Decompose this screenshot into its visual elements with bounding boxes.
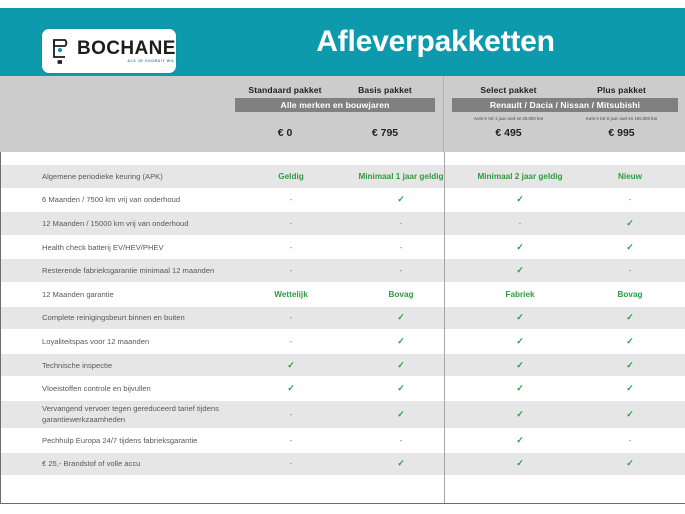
check-icon: ✓ [397,336,405,346]
table-spacer-row [1,152,685,165]
table-row: Technische inspectie✓✓✓✓ [1,354,685,378]
table-row: 6 Maanden / 7500 km vrij van onderhoud-✓… [1,189,685,213]
column-price-standaard: € 0 [235,127,335,139]
feature-value: ✓ [236,360,346,371]
feature-value: ✓ [346,360,456,371]
dash-icon: - [290,219,293,228]
column-name-standaard: Standaard pakket [235,85,335,95]
value-text: Bovag [388,290,413,299]
group-band-label-left: Alle merken en bouwjaren [235,98,435,112]
table-row: Resterende fabrieksgarantie minimaal 12 … [1,259,685,283]
dash-icon: - [290,459,293,468]
feature-value: - [236,410,346,419]
page-header-banner: BOCHANE ALS JE VOORUIT WIL Afleverpakket… [0,8,685,76]
feature-value: - [346,436,456,445]
dash-icon: - [290,337,293,346]
feature-value: ✓ [346,194,456,205]
afleverpakketten-sheet: BOCHANE ALS JE VOORUIT WIL Afleverpakket… [0,0,685,514]
feature-label: 12 Maanden / 15000 km vrij van onderhoud [1,218,236,229]
check-icon: ✓ [397,458,405,468]
feature-value: Wettelijk [236,290,346,299]
table-row: 12 Maanden / 15000 km vrij van onderhoud… [1,212,685,236]
feature-value: - [236,195,346,204]
feature-value: - [346,243,456,252]
feature-value: ✓ [465,435,575,446]
check-icon: ✓ [516,336,524,346]
dash-icon: - [290,266,293,275]
feature-value: ✓ [575,218,685,229]
value-text: Geldig [278,172,303,181]
feature-value: - [346,266,456,275]
feature-value: Minimaal 2 jaar geldig [465,172,575,181]
value-text: Fabriek [505,290,534,299]
dash-icon: - [400,243,403,252]
dash-icon: - [290,195,293,204]
dash-icon: - [629,195,632,204]
feature-value: - [346,219,456,228]
column-name-plus: Plus pakket [565,85,678,95]
feature-label: 12 Maanden garantie [1,289,236,300]
check-icon: ✓ [626,312,634,322]
dash-icon: - [290,436,293,445]
check-icon: ✓ [516,312,524,322]
feature-label: Complete reinigingsbeurt binnen en buite… [1,312,236,323]
value-text: Minimaal 2 jaar geldig [477,172,562,181]
feature-value: ✓ [346,336,456,347]
dash-icon: - [290,410,293,419]
feature-value: ✓ [575,458,685,469]
check-icon: ✓ [516,409,524,419]
check-icon: ✓ [287,360,295,370]
column-price-select: € 495 [452,127,565,139]
bochane-logo-icon [51,37,73,65]
feature-value: ✓ [465,458,575,469]
value-text: Bovag [617,290,642,299]
table-row: Complete reinigingsbeurt binnen en buite… [1,307,685,331]
table-row: 12 Maanden garantieWettelijkBovagFabriek… [1,283,685,307]
feature-value: - [465,219,575,228]
dash-icon: - [400,436,403,445]
feature-value: ✓ [465,265,575,276]
check-icon: ✓ [516,242,524,252]
feature-value: Geldig [236,172,346,181]
check-icon: ✓ [516,194,524,204]
column-subtitle-plus: Auto's tot 5 jaar oud en 100.000 km [565,116,678,121]
feature-value: ✓ [346,312,456,323]
check-icon: ✓ [516,383,524,393]
feature-value: - [236,436,346,445]
feature-value: ✓ [575,360,685,371]
feature-value: - [575,195,685,204]
check-icon: ✓ [626,360,634,370]
feature-label: Vervangend vervoer tegen gereduceerd tar… [1,403,236,425]
feature-label: Pechhulp Europa 24/7 tijdens fabrieksgar… [1,435,236,446]
column-group-renault-dacia-nissan-mitsubishi: Select pakket Plus pakket Renault / Daci… [452,76,678,152]
dash-icon: - [290,243,293,252]
table-row: Vervangend vervoer tegen gereduceerd tar… [1,401,685,429]
value-text: Minimaal 1 jaar geldig [358,172,443,181]
bochane-logo: BOCHANE ALS JE VOORUIT WIL [42,29,176,73]
table-group-divider [444,152,445,503]
features-table: Algemene periodieke keuring (APK)GeldigM… [0,152,685,504]
feature-value: Minimaal 1 jaar geldig [346,172,456,181]
check-icon: ✓ [516,435,524,445]
group-subtitle-spacer-left [235,112,435,124]
dash-icon: - [290,313,293,322]
column-name-basis: Basis pakket [335,85,435,95]
dash-icon: - [519,219,522,228]
features-table-rows: Algemene periodieke keuring (APK)GeldigM… [1,152,685,505]
feature-value: - [575,436,685,445]
feature-label: Vloeistoffen controle en bijvullen [1,383,236,394]
feature-value: ✓ [575,409,685,420]
column-group-alle-merken: Standaard pakket Basis pakket Alle merke… [235,76,435,152]
check-icon: ✓ [397,312,405,322]
feature-value: - [236,219,346,228]
table-row: Loyaliteitspas voor 12 maanden-✓✓✓ [1,330,685,354]
group-band-label-right: Renault / Dacia / Nissan / Mitsubishi [452,98,678,112]
feature-value: ✓ [465,360,575,371]
feature-label: Resterende fabrieksgarantie minimaal 12 … [1,265,236,276]
feature-label: € 25,- Brandstof of volle accu [1,458,236,469]
check-icon: ✓ [626,336,634,346]
table-row: Pechhulp Europa 24/7 tijdens fabrieksgar… [1,429,685,453]
header-group-divider [443,76,444,152]
feature-value: ✓ [465,383,575,394]
check-icon: ✓ [397,194,405,204]
column-name-select: Select pakket [452,85,565,95]
feature-value: ✓ [575,242,685,253]
check-icon: ✓ [626,409,634,419]
feature-value: ✓ [465,194,575,205]
bochane-logo-wordmark: BOCHANE [77,39,176,58]
feature-value: ✓ [575,312,685,323]
check-icon: ✓ [516,458,524,468]
feature-value: ✓ [346,409,456,420]
dash-icon: - [629,436,632,445]
feature-value: ✓ [465,242,575,253]
check-icon: ✓ [397,409,405,419]
feature-value: Bovag [346,290,456,299]
page-title: Afleverpakketten [186,8,685,76]
check-icon: ✓ [626,218,634,228]
dash-icon: - [400,219,403,228]
feature-value: ✓ [465,336,575,347]
table-row: Health check batterij EV/HEV/PHEV--✓✓ [1,236,685,260]
feature-value: Bovag [575,290,685,299]
feature-value: - [236,266,346,275]
check-icon: ✓ [626,242,634,252]
column-price-plus: € 995 [565,127,678,139]
feature-value: - [236,313,346,322]
feature-value: - [236,243,346,252]
check-icon: ✓ [516,360,524,370]
check-icon: ✓ [626,458,634,468]
feature-label: Health check batterij EV/HEV/PHEV [1,242,236,253]
feature-label: 6 Maanden / 7500 km vrij van onderhoud [1,194,236,205]
column-subtitle-select: Auto's tot 1 jaar oud en 20.000 km [452,116,565,121]
feature-value: - [236,337,346,346]
table-row: € 25,- Brandstof of volle accu-✓✓✓ [1,453,685,477]
feature-value: - [575,266,685,275]
value-text: Nieuw [618,172,642,181]
column-price-basis: € 795 [335,127,435,139]
feature-value: ✓ [236,383,346,394]
check-icon: ✓ [516,265,524,275]
dash-icon: - [400,266,403,275]
check-icon: ✓ [626,383,634,393]
feature-value: ✓ [465,312,575,323]
table-row: Vloeistoffen controle en bijvullen✓✓✓✓ [1,377,685,401]
feature-label: Technische inspectie [1,360,236,371]
feature-value: ✓ [575,383,685,394]
table-row: Algemene periodieke keuring (APK)GeldigM… [1,165,685,189]
check-icon: ✓ [287,383,295,393]
feature-value: ✓ [575,336,685,347]
column-header-band: Standaard pakket Basis pakket Alle merke… [0,76,685,152]
feature-label: Loyaliteitspas voor 12 maanden [1,336,236,347]
bochane-logo-tagline: ALS JE VOORUIT WIL [127,60,174,64]
feature-value: ✓ [465,409,575,420]
value-text: Wettelijk [274,290,308,299]
feature-value: ✓ [346,383,456,394]
feature-label: Algemene periodieke keuring (APK) [1,171,236,182]
table-footer-row [1,476,685,505]
check-icon: ✓ [397,360,405,370]
feature-value: Nieuw [575,172,685,181]
feature-value: ✓ [346,458,456,469]
dash-icon: - [629,266,632,275]
feature-value: Fabriek [465,290,575,299]
feature-value: - [236,459,346,468]
check-icon: ✓ [397,383,405,393]
